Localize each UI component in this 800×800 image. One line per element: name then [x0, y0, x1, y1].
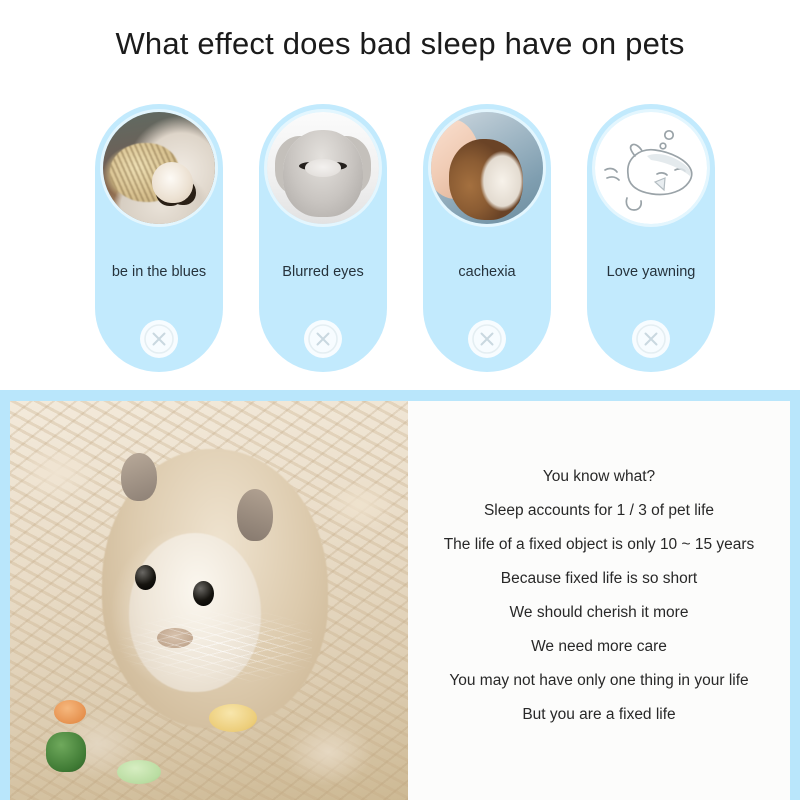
bottom-panel: You know what? Sleep accounts for 1 / 3 … — [0, 390, 800, 800]
x-circle-icon[interactable] — [468, 320, 506, 358]
quote-line: Sleep accounts for 1 / 3 of pet life — [484, 494, 714, 528]
quote-block: You know what? Sleep accounts for 1 / 3 … — [408, 401, 790, 800]
pet-card-label: be in the blues — [95, 264, 223, 280]
pet-card-cachexia[interactable]: cachexia — [423, 104, 551, 372]
chinchilla-photo — [267, 112, 379, 224]
quote-line: We need more care — [531, 630, 667, 664]
pet-card-label: cachexia — [423, 264, 551, 280]
pet-card-love-yawning[interactable]: Love yawning — [587, 104, 715, 372]
pet-symptom-card-strip: be in the blues Blurred eyes — [95, 104, 715, 372]
page-title: What effect does bad sleep have on pets — [0, 26, 800, 62]
sleeping-hamster-cartoon — [595, 112, 707, 224]
infographic-page: What effect does bad sleep have on pets … — [0, 0, 800, 800]
quote-line: The life of a fixed object is only 10 ~ … — [444, 528, 755, 562]
guinea-pig-in-hand-photo — [431, 112, 543, 224]
hedgehog-photo — [103, 112, 215, 224]
pet-card-label: Blurred eyes — [259, 264, 387, 280]
x-circle-icon[interactable] — [632, 320, 670, 358]
quote-line: We should cherish it more — [510, 596, 689, 630]
quote-line: But you are a fixed life — [522, 698, 675, 732]
x-circle-icon[interactable] — [140, 320, 178, 358]
pet-card-blurred-eyes[interactable]: Blurred eyes — [259, 104, 387, 372]
pet-card-be-in-the-blues[interactable]: be in the blues — [95, 104, 223, 372]
hamster-on-bedding-photo — [10, 401, 408, 800]
quote-line: You know what? — [543, 460, 655, 494]
x-circle-icon[interactable] — [304, 320, 342, 358]
panel-inner: You know what? Sleep accounts for 1 / 3 … — [10, 401, 790, 800]
quote-line: Because fixed life is so short — [501, 562, 697, 596]
quote-line: You may not have only one thing in your … — [449, 664, 748, 698]
pet-card-label: Love yawning — [587, 264, 715, 280]
